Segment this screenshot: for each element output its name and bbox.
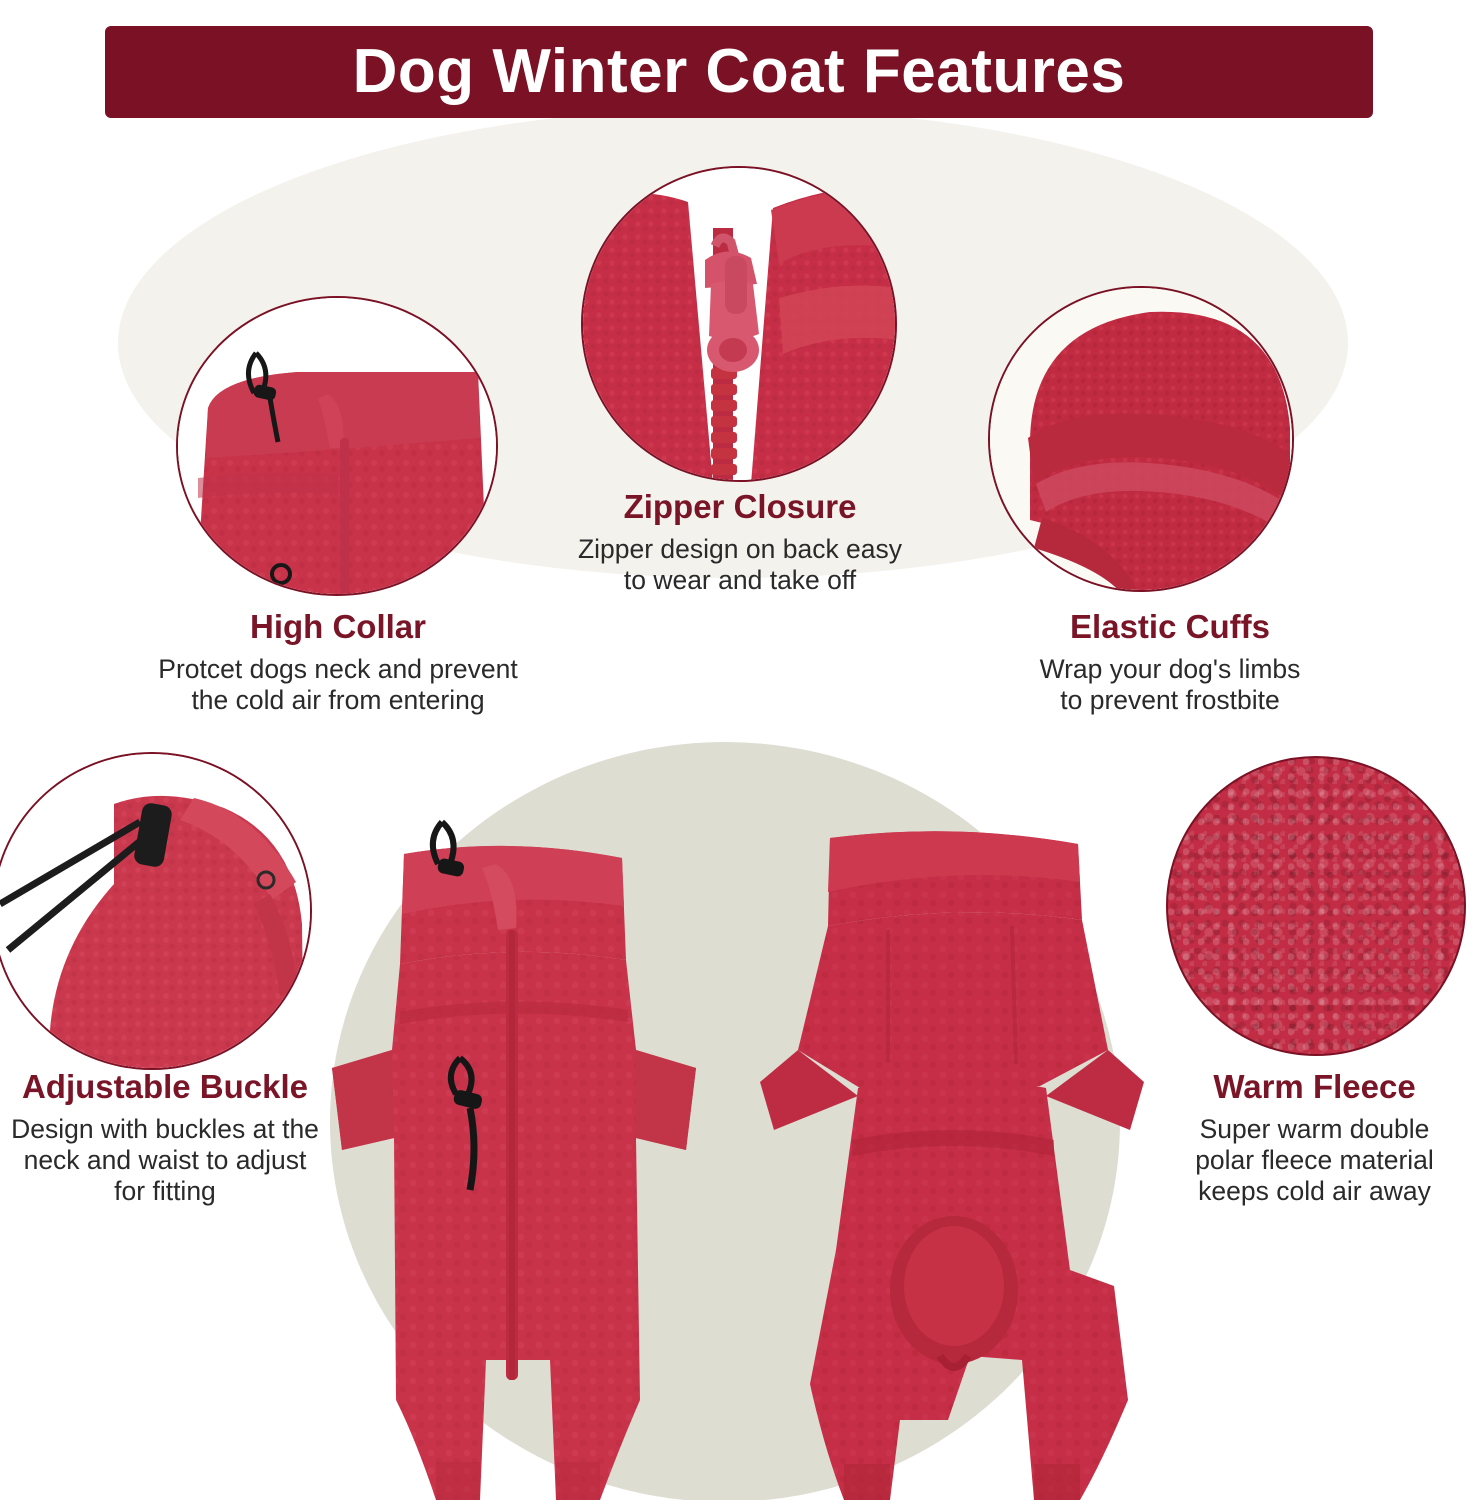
coat-front-illustration [300,800,720,1500]
buckle-closeup-photo [0,752,312,1070]
zipper-illustration [583,168,897,482]
buckle-illustration [0,754,312,1070]
coat-back-illustration [740,800,1160,1500]
feature-warm-fleece-caption: Warm Fleece Super warm double polar flee… [1152,1068,1477,1208]
cuff-closeup-photo [988,286,1294,592]
dog-coat-front-view-photo [300,800,720,1500]
cuff-illustration [990,288,1294,592]
page-title-banner: Dog Winter Coat Features [105,26,1373,118]
feature-elastic-cuffs-caption: Elastic Cuffs Wrap your dog's limbs to p… [880,608,1460,716]
feature-elastic-cuffs-title: Elastic Cuffs [880,608,1460,646]
collar-illustration [178,298,498,596]
feature-adjustable-buckle-caption: Adjustable Buckle Design with buckles at… [0,1068,330,1208]
zipper-closeup-photo [581,166,897,482]
feature-high-collar-caption: High Collar Protcet dogs neck and preven… [60,608,616,716]
fleece-texture-photo [1166,756,1466,1056]
zipper-pull-icon [705,238,759,372]
feature-zipper-closure-description: Zipper design on back easy to wear and t… [470,534,1010,597]
feature-high-collar-description: Protcet dogs neck and prevent the cold a… [60,654,616,717]
collar-closeup-photo [176,296,498,596]
feature-warm-fleece-description: Super warm double polar fleece material … [1152,1114,1477,1208]
feature-adjustable-buckle-description: Design with buckles at the neck and wais… [0,1114,330,1208]
dog-coat-back-view-photo [740,800,1160,1500]
page-title: Dog Winter Coat Features [353,41,1126,103]
feature-zipper-closure-caption: Zipper Closure Zipper design on back eas… [470,488,1010,596]
feature-adjustable-buckle-title: Adjustable Buckle [0,1068,330,1106]
feature-zipper-closure-title: Zipper Closure [470,488,1010,526]
feature-high-collar-title: High Collar [60,608,616,646]
feature-warm-fleece-title: Warm Fleece [1152,1068,1477,1106]
feature-elastic-cuffs-description: Wrap your dog's limbs to prevent frostbi… [880,654,1460,717]
